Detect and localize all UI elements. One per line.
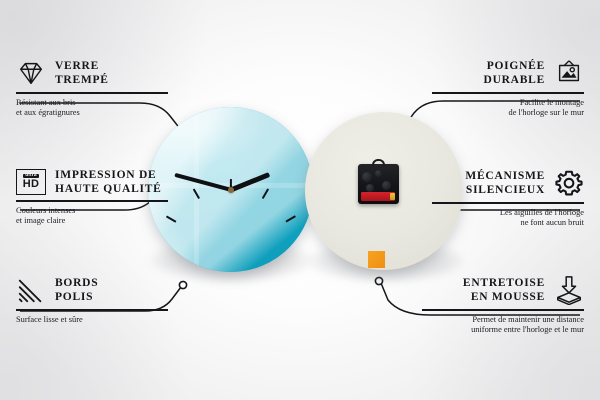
divider [16,92,168,94]
feature-title: ENTRETOISE EN MOUSSE [463,276,545,304]
feature-bords-polis: BORDS POLIS Surface lisse et sûre [16,275,168,325]
feature-subtitle: Surface lisse et sûre [16,315,168,326]
feature-poignee-durable: POIGNÉE DURABLE Facilite le montage de l… [432,58,584,119]
diamond-icon [16,58,46,88]
feature-title: BORDS POLIS [55,276,98,304]
feature-subtitle: Résistant aux bris et aux égratignures [16,98,168,119]
mechanism-detail [366,184,374,192]
gear-icon [554,168,584,198]
wall-mount-picture-icon [554,58,584,88]
infographic-canvas: VERRE TREMPÉ Résistant aux bris et aux é… [0,0,600,400]
front-clock [148,107,313,272]
feature-title: VERRE TREMPÉ [55,59,109,87]
connector-dot-bords-polis [179,281,186,288]
quartz-mechanism [358,164,399,204]
hour-marker [156,252,167,254]
feature-subtitle: Permet de maintenir une distance uniform… [422,315,584,336]
feature-entretoise-en-mousse: ENTRETOISE EN MOUSSE Permet de maintenir… [422,275,584,336]
feature-impression-haute-qualite: ultra HD IMPRESSION DE HAUTE QUALITÉ Cou… [16,168,168,227]
center-cap [228,187,234,193]
hd-label: HD [23,179,40,190]
divider [432,92,584,94]
divider [16,309,168,311]
hanger-loop-icon [372,159,385,166]
feature-mecanisme-silencieux: MÉCANISME SILENCIEUX Les aiguilles de l'… [432,168,584,229]
feature-title: MÉCANISME SILENCIEUX [465,169,545,197]
battery [361,192,395,201]
mechanism-detail [382,181,391,190]
hour-marker [294,252,305,254]
feature-subtitle: Les aiguilles de l'horloge ne font aucun… [432,208,584,229]
divider [432,202,584,204]
feature-title: IMPRESSION DE HAUTE QUALITÉ [55,168,162,196]
feature-subtitle: Facilite le montage de l'horloge sur le … [432,98,584,119]
foam-spacer-arrow-icon [554,275,584,305]
feature-title: POIGNÉE DURABLE [484,59,545,87]
feature-subtitle: Couleurs intenses et image claire [16,206,168,227]
foam-spacer [368,251,385,268]
polished-edges-icon [16,275,46,305]
divider [422,309,584,311]
feature-verre-trempe: VERRE TREMPÉ Résistant aux bris et aux é… [16,58,168,119]
divider [16,200,168,202]
ultra-hd-icon: ultra HD [16,169,46,195]
mechanism-detail [362,172,372,182]
mechanism-detail [375,170,382,177]
